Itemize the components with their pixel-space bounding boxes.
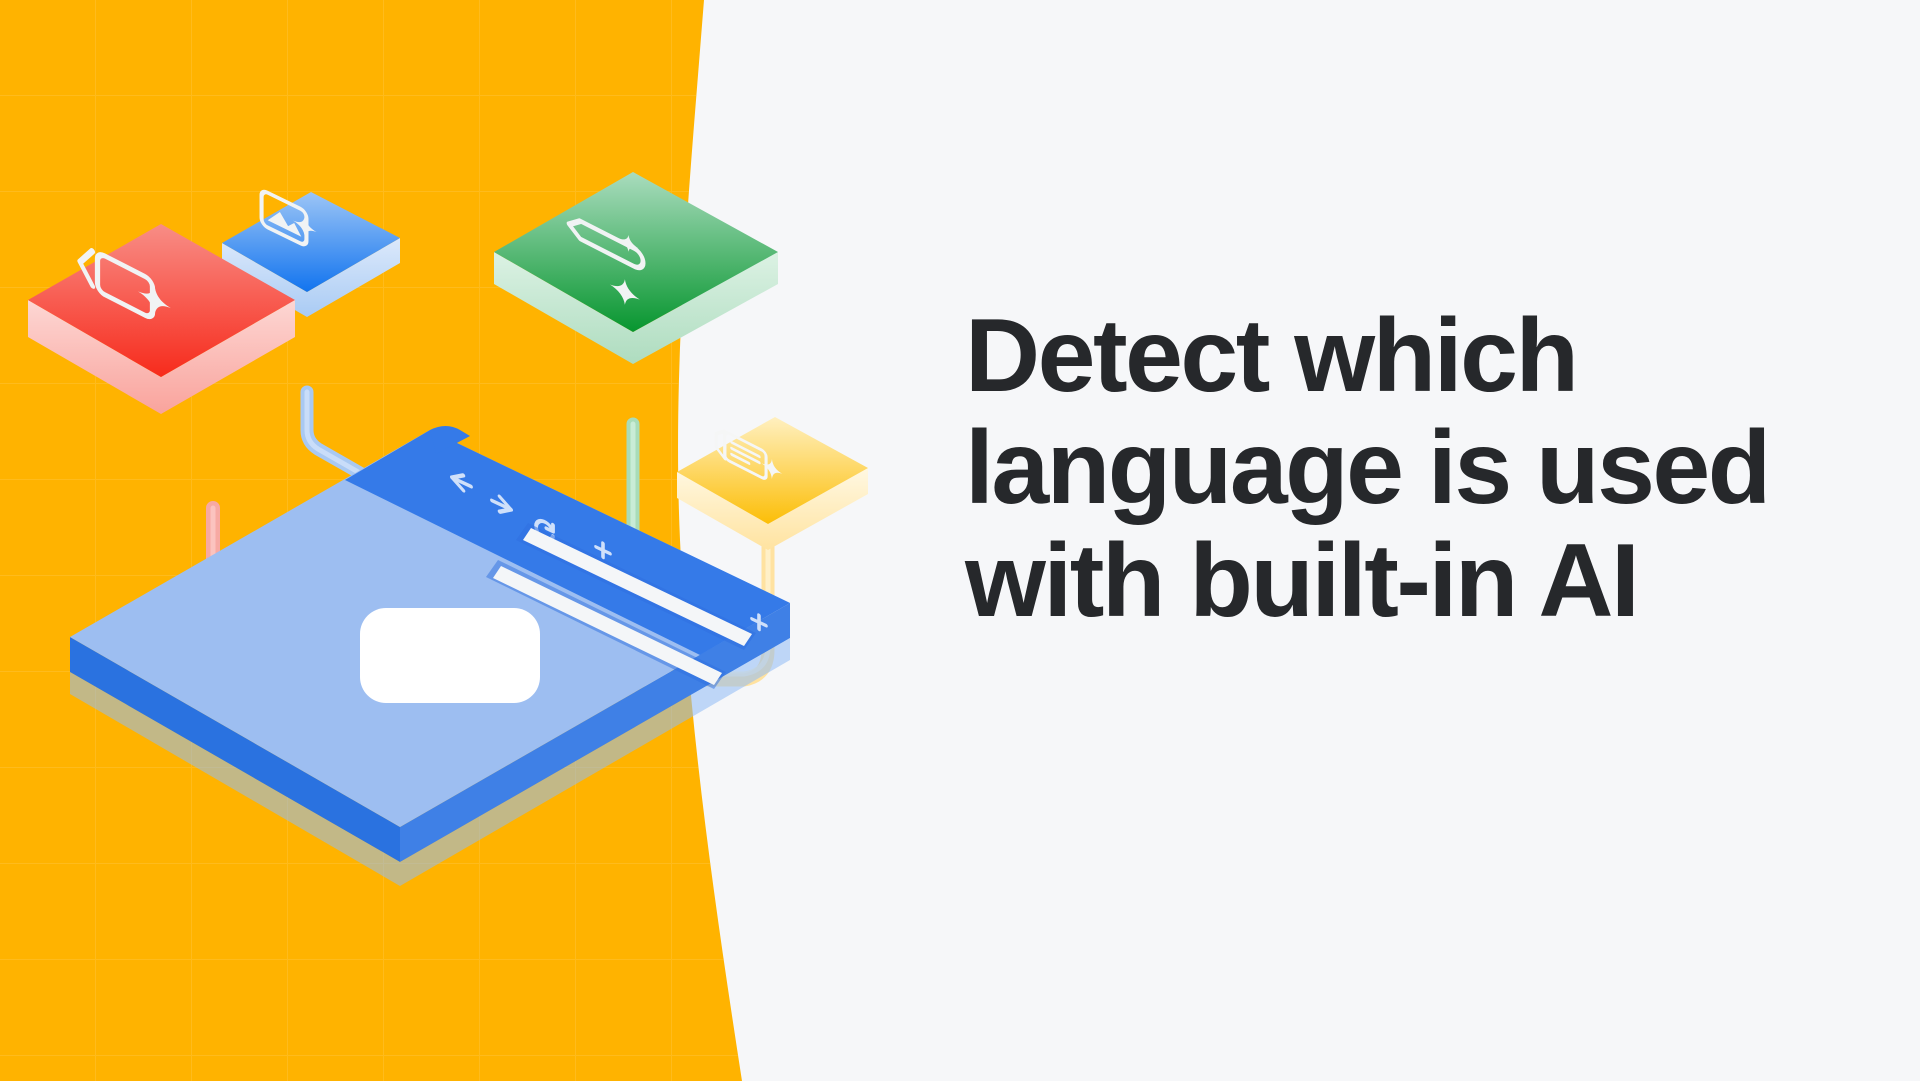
headline-block: Detect which language is used with built… <box>965 300 1825 637</box>
builtin-ai-illustration <box>0 0 900 1081</box>
ai-output-card[interactable] <box>360 608 540 703</box>
page-title: Detect which language is used with built… <box>965 300 1825 637</box>
tile-write[interactable] <box>494 172 778 364</box>
hero-screenshot: Detect which language is used with built… <box>0 0 1920 1081</box>
tile-summarize[interactable] <box>677 417 868 550</box>
